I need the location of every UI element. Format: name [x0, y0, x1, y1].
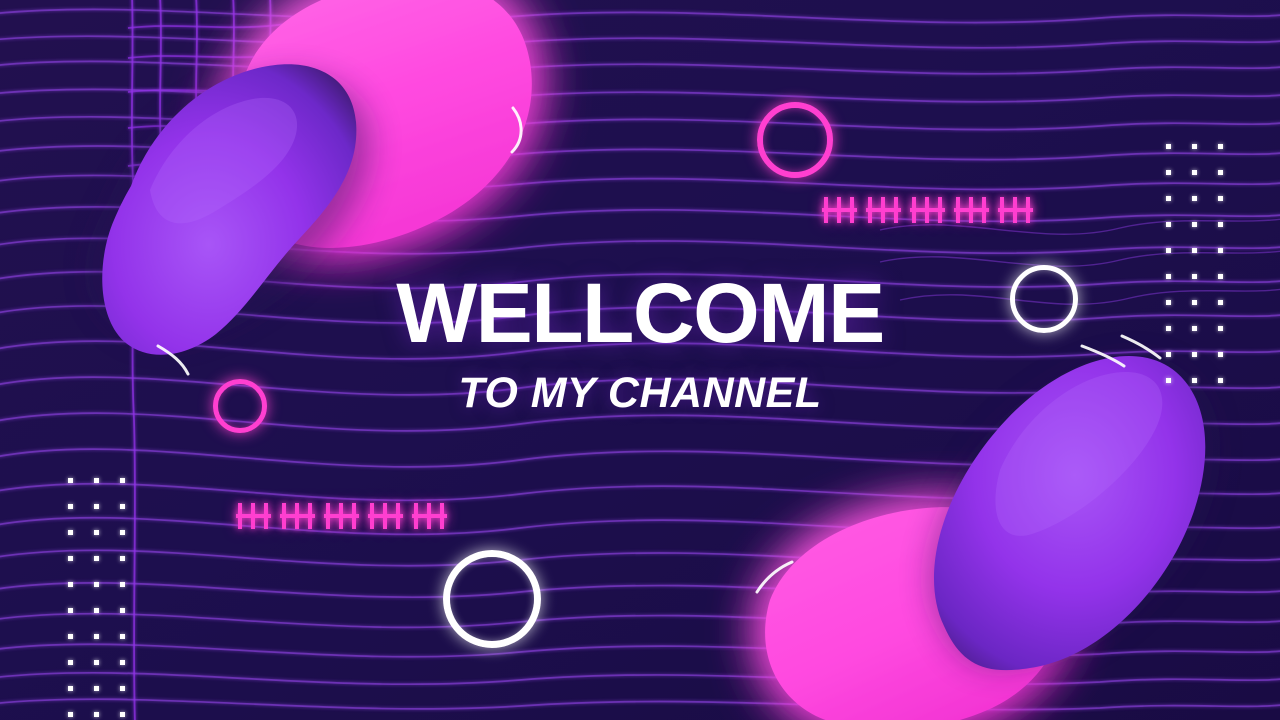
blob-purple-top-left — [95, 64, 370, 355]
tally-group — [282, 503, 313, 529]
tally-marks-bottom-left — [238, 503, 445, 529]
tally-group — [370, 503, 401, 529]
tally-group — [238, 503, 269, 529]
dot-grid-left — [68, 478, 125, 717]
accent-arc-right-upper — [1122, 336, 1160, 358]
dot-grid-right — [1166, 144, 1223, 383]
tally-group — [956, 197, 987, 223]
tally-group — [326, 503, 357, 529]
tally-group — [912, 197, 943, 223]
blob-purple-bottom-right — [931, 356, 1210, 670]
tally-marks-top-right — [824, 197, 1031, 223]
tally-group — [824, 197, 855, 223]
channel-intro-banner: WELLCOME TO MY CHANNEL — [0, 0, 1280, 720]
ring-pink-top-right — [757, 102, 833, 178]
tally-group — [868, 197, 899, 223]
tally-group — [1000, 197, 1031, 223]
ring-white-mid-right — [1010, 265, 1078, 333]
ring-white-bottom-center — [443, 550, 541, 648]
decorative-blobs-layer — [0, 0, 1280, 720]
tally-group — [414, 503, 445, 529]
ring-pink-mid-left — [213, 379, 267, 433]
